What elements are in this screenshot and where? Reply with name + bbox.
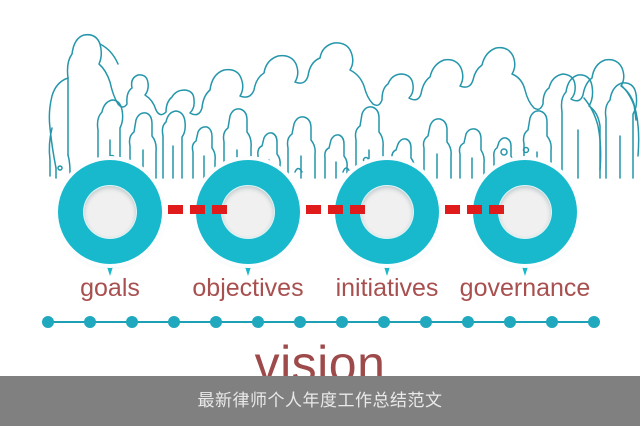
pin-label-row: goalsobjectivesinitiativesgovernance xyxy=(0,272,640,306)
dash-segment xyxy=(467,205,482,214)
dash-segment xyxy=(212,205,227,214)
dash-segment xyxy=(190,205,205,214)
timeline-dot xyxy=(378,316,390,328)
dash-segment xyxy=(168,205,183,214)
map-pin-objectives[interactable] xyxy=(196,160,300,276)
crowd-silhouette-svg xyxy=(0,0,640,180)
timeline-dot xyxy=(252,316,264,328)
map-pin-initiatives[interactable] xyxy=(335,160,439,276)
dash-segment xyxy=(445,205,460,214)
infographic-canvas: goalsobjectivesinitiativesgovernance vis… xyxy=(0,0,640,426)
pin-inner-circle xyxy=(222,186,274,238)
pin-label-objectives: objectives xyxy=(168,272,328,304)
pin-label-goals: goals xyxy=(30,272,190,304)
crowd-of-people-outline-icon xyxy=(0,0,640,180)
pin-inner-circle xyxy=(499,186,551,238)
pin-inner-circle xyxy=(361,186,413,238)
dash-segment xyxy=(306,205,321,214)
timeline-dot xyxy=(168,316,180,328)
timeline-dot xyxy=(84,316,96,328)
map-pin-governance[interactable] xyxy=(473,160,577,276)
timeline-dot xyxy=(504,316,516,328)
pin-row xyxy=(0,160,640,270)
dotted-timeline xyxy=(0,312,640,332)
caption-bar: 最新律师个人年度工作总结范文 xyxy=(0,376,640,426)
pin-label-governance: governance xyxy=(445,272,605,304)
timeline-dot xyxy=(420,316,432,328)
pin-inner-circle xyxy=(84,186,136,238)
pin-label-initiatives: initiatives xyxy=(307,272,467,304)
dashed-connector-2 xyxy=(306,205,365,214)
dashed-connector-1 xyxy=(168,205,227,214)
caption-text: 最新律师个人年度工作总结范文 xyxy=(198,390,443,412)
map-pin-goals[interactable] xyxy=(58,160,162,276)
dash-segment xyxy=(328,205,343,214)
timeline-dot xyxy=(546,316,558,328)
timeline-dot xyxy=(336,316,348,328)
timeline-dot xyxy=(462,316,474,328)
timeline-dot xyxy=(42,316,54,328)
dashed-connector-3 xyxy=(445,205,504,214)
dash-segment xyxy=(350,205,365,214)
timeline-dot xyxy=(588,316,600,328)
dash-segment xyxy=(489,205,504,214)
timeline-dot xyxy=(210,316,222,328)
timeline-dot xyxy=(126,316,138,328)
timeline-dot xyxy=(294,316,306,328)
